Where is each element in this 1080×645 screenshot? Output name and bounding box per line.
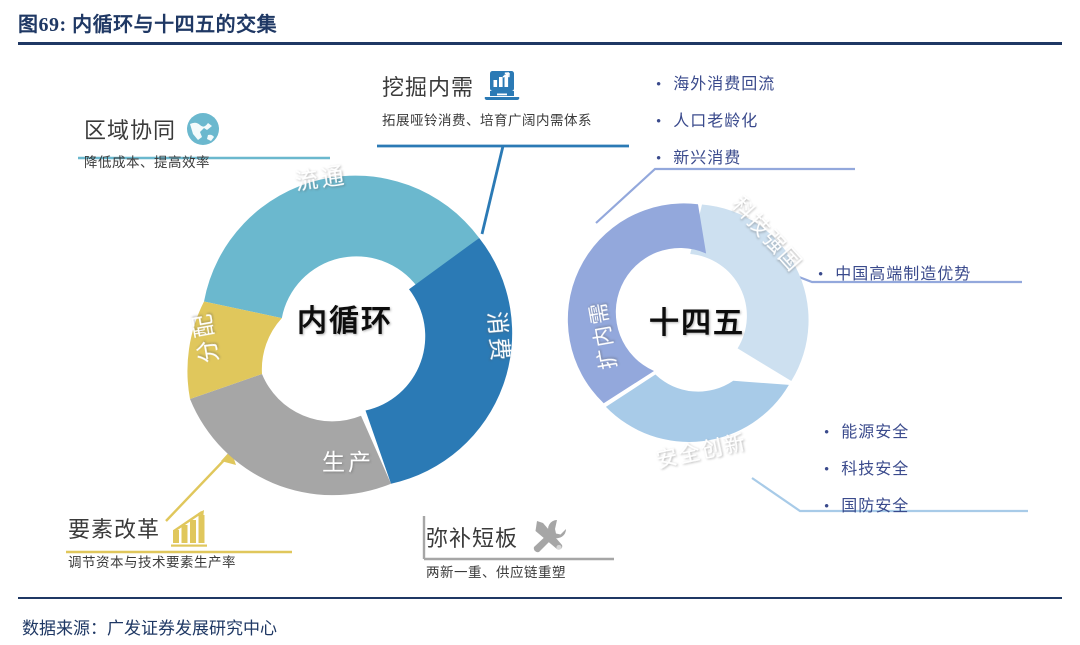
list-item[interactable]: • 人口老龄化 — [656, 107, 775, 131]
bullet-label: 能源安全 — [841, 418, 909, 442]
figure-title-bar: 图69: 内循环与十四五的交集 — [18, 8, 1062, 37]
segment-shengchan — [190, 374, 391, 495]
bullets-manufacturing: • 中国高端制造优势 — [818, 260, 971, 297]
callout-demand-subtitle: 拓展哑铃消费、培育广阔内需体系 — [382, 109, 592, 129]
bar-growth-icon — [168, 508, 214, 548]
bullet-label: 科技安全 — [841, 455, 909, 479]
donut-center-14th-five-year: 十四五 — [649, 307, 745, 340]
bullet-label: 国防安全 — [841, 492, 909, 516]
bullet-label: 新兴消费 — [673, 144, 741, 168]
bullet-label: 中国高端制造优势 — [835, 260, 971, 284]
donut-14th-five-year: 科技强国 安全创新 扩内需 十四五 — [568, 192, 809, 472]
bullet-dot-icon: • — [824, 426, 830, 441]
bullet-dot-icon: • — [818, 268, 824, 283]
callout-demand[interactable]: 挖掘内需 拓展哑铃消费、培育广阔内需体系 — [382, 66, 592, 129]
bullet-dot-icon: • — [656, 115, 662, 130]
segment-anquanchuangxin — [606, 375, 789, 442]
bullet-label: 海外消费回流 — [673, 70, 775, 94]
callout-region[interactable]: 区域协同 降低成本、提高效率 — [84, 110, 222, 171]
bullets-consumption: • 海外消费回流 • 人口老龄化 • 新兴消费 — [656, 70, 775, 181]
list-item[interactable]: • 能源安全 — [824, 418, 909, 442]
source-divider — [18, 597, 1062, 599]
donut-inner-circulation: 流通 消费 生产 分配 内循环 — [187, 163, 513, 496]
title-divider — [18, 42, 1062, 45]
list-item[interactable]: • 国防安全 — [824, 492, 909, 516]
list-item[interactable]: • 科技安全 — [824, 455, 909, 479]
tools-icon — [526, 516, 572, 558]
donut-center-inner-circulation: 内循环 — [297, 305, 393, 338]
connector-demand-leg — [482, 146, 503, 234]
callout-demand-title: 挖掘内需 — [382, 70, 474, 102]
list-item[interactable]: • 新兴消费 — [656, 144, 775, 168]
callout-region-subtitle: 降低成本、提高效率 — [84, 151, 222, 171]
globe-icon — [184, 110, 222, 148]
bullet-dot-icon: • — [656, 152, 662, 167]
bullet-label: 人口老龄化 — [673, 107, 758, 131]
callout-factor-title: 要素改革 — [68, 512, 160, 544]
bullet-dot-icon: • — [656, 78, 662, 93]
callout-factor-subtitle: 调节资本与技术要素生产率 — [68, 551, 236, 571]
page-title: 图69: 内循环与十四五的交集 — [18, 8, 1062, 37]
bullet-dot-icon: • — [824, 463, 830, 478]
callout-shortboard-title: 弥补短板 — [426, 521, 518, 553]
segment-label-shengchan: 生产 — [322, 450, 374, 475]
callout-shortboard[interactable]: 弥补短板 两新一重、供应链重塑 — [426, 516, 572, 581]
callout-shortboard-subtitle: 两新一重、供应链重塑 — [426, 561, 572, 581]
list-item[interactable]: • 海外消费回流 — [656, 70, 775, 94]
list-item[interactable]: • 中国高端制造优势 — [818, 260, 971, 284]
figure-root: 图69: 内循环与十四五的交集 — [0, 0, 1080, 645]
segment-label-xiaofei: 消费 — [484, 310, 513, 364]
laptop-chart-icon — [482, 66, 522, 106]
bullets-security: • 能源安全 • 科技安全 • 国防安全 — [824, 418, 909, 529]
source-note: 数据来源：广发证券发展研究中心 — [22, 614, 277, 639]
callout-region-title: 区域协同 — [84, 113, 176, 145]
bullet-dot-icon: • — [824, 500, 830, 515]
callout-factor[interactable]: 要素改革 调节资本与技术要素生产率 — [68, 508, 236, 571]
